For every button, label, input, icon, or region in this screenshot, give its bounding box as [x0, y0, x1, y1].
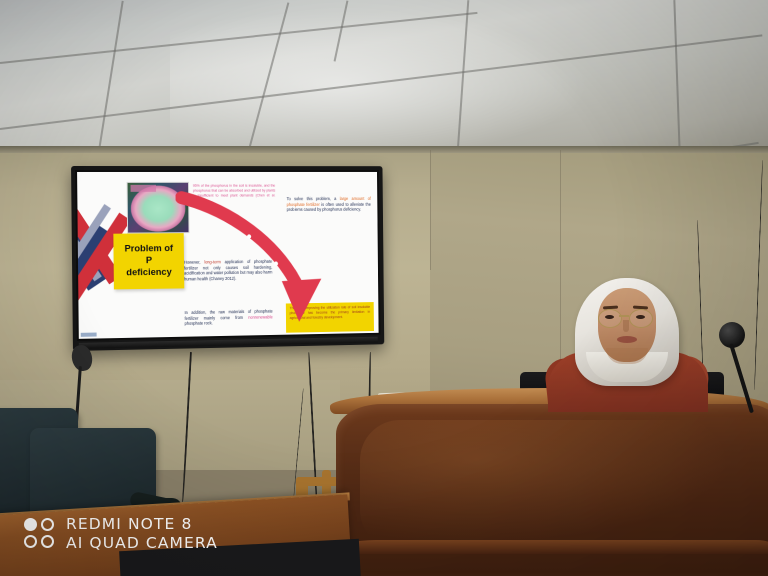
- title-line-3: deficiency: [126, 267, 172, 279]
- presentation-slide: 95% of the phosphorus in the soil is ins…: [77, 172, 379, 339]
- camera-dot: [24, 535, 37, 548]
- presenter-lips: [617, 336, 637, 343]
- photo-scene: 95% of the phosphorus in the soil is ins…: [0, 0, 768, 576]
- title-line-1: Problem of: [124, 243, 173, 255]
- slide-title-box: Problem of P deficiency: [113, 233, 184, 289]
- ceiling-grid-line: [98, 1, 123, 149]
- camera-dot: [24, 518, 37, 531]
- presenter-eye: [605, 315, 614, 319]
- wall-ceiling-trim: [0, 146, 768, 153]
- title-line-2: P: [146, 255, 152, 267]
- watermark-line-2: AI QUAD CAMERA: [66, 534, 218, 553]
- presenter-eye: [636, 315, 645, 319]
- ceiling-grid-line: [673, 0, 680, 152]
- watermark-line-1: REDMI NOTE 8: [66, 515, 218, 534]
- camera-watermark: REDMI NOTE 8 AI QUAD CAMERA: [24, 515, 218, 553]
- camera-dot: [41, 535, 54, 548]
- podium-sheen: [360, 420, 750, 550]
- ceiling: [0, 0, 768, 152]
- wooden-chair-top-rail: [296, 477, 338, 486]
- camera-dot: [41, 518, 54, 531]
- watermark-text: REDMI NOTE 8 AI QUAD CAMERA: [66, 515, 218, 553]
- wall-seam: [560, 150, 561, 380]
- presenter-eyeglass-bridge: [619, 315, 629, 317]
- wall-seam: [430, 150, 431, 270]
- tv-power-led: [81, 333, 97, 337]
- slide-arrow: [175, 185, 375, 338]
- quad-camera-dots-icon: [24, 518, 56, 550]
- wall-mounted-tv[interactable]: 95% of the phosphorus in the soil is ins…: [71, 166, 384, 351]
- presenter-nose: [623, 320, 629, 332]
- podium-base-lip: [336, 540, 768, 554]
